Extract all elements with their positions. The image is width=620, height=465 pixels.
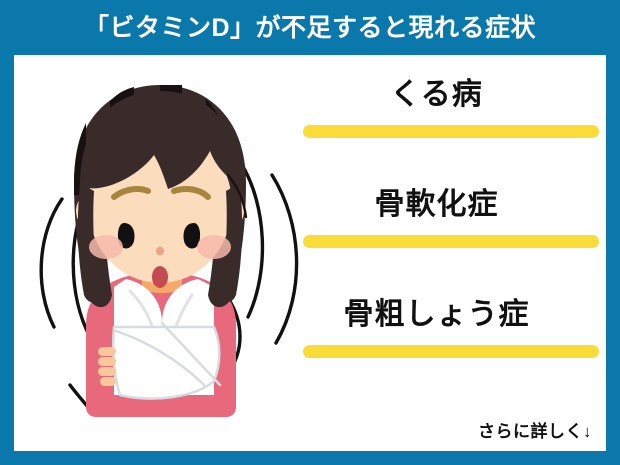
symptom-item: 骨軟化症 [284, 183, 604, 293]
page-title: 「ビタミンD」が不足すると現れる症状 [0, 12, 620, 44]
symptom-item: くる病 [284, 73, 604, 183]
symptom-item: 骨粗しょう症 [284, 293, 604, 403]
symptom-underline-bar [303, 235, 599, 248]
girl-body [74, 85, 246, 417]
symptom-list: くる病 骨軟化症 骨粗しょう症 [284, 73, 604, 403]
learn-more-link[interactable]: さらに詳しく↓ [478, 417, 592, 442]
symptom-underline-bar [303, 125, 599, 138]
girl-with-arm-sling-illustration [14, 55, 304, 451]
symptom-label: 骨粗しょう症 [284, 293, 589, 337]
content-card: くる病 骨軟化症 骨粗しょう症 さらに詳しく↓ [14, 55, 606, 451]
symptom-underline-bar [303, 345, 599, 358]
symptom-label: くる病 [284, 73, 589, 117]
symptom-label: 骨軟化症 [284, 183, 589, 227]
infographic-canvas: 「ビタミンD」が不足すると現れる症状 [0, 0, 620, 465]
